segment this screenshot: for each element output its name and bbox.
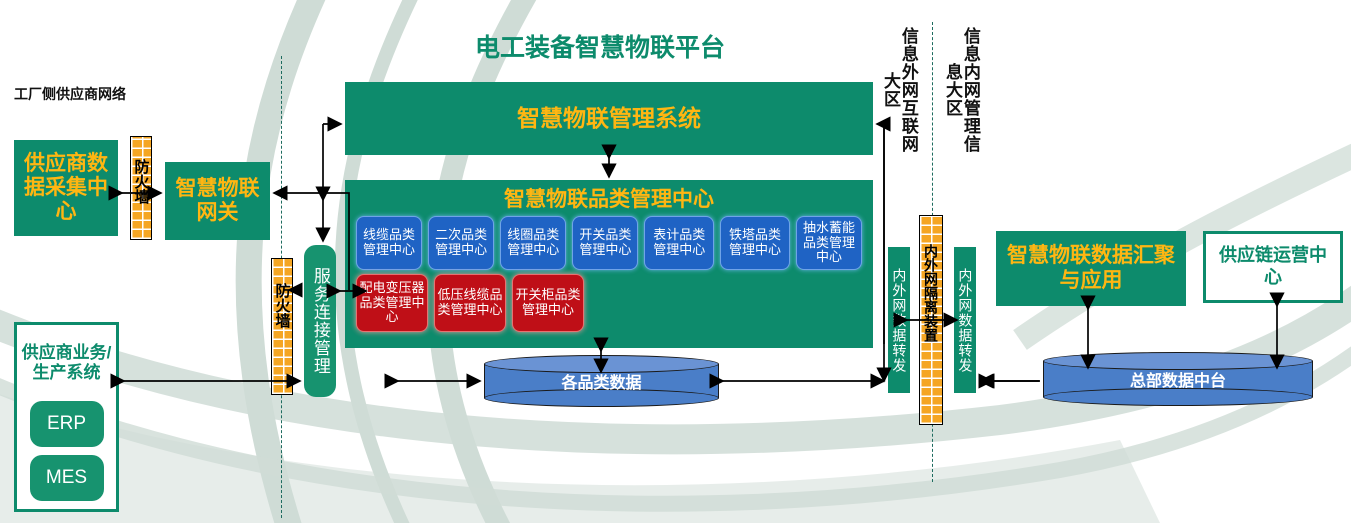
category-chip-cable[interactable]: 线缆品类管理中心	[356, 216, 422, 270]
smart-iot-management-system[interactable]: 智慧物联管理系统	[345, 82, 873, 155]
zone-label-int-net: 信息内网管理信息大区	[938, 25, 984, 155]
category-chip-transformer[interactable]: 配电变压器品类管理中心	[356, 274, 428, 332]
erp-module[interactable]: ERP	[30, 401, 104, 447]
category-data-database[interactable]: 各品类数据	[484, 355, 719, 407]
category-chip-row-red: 配电变压器品类管理中心 低压线缆品类管理中心 开关柜品类管理中心	[356, 274, 656, 330]
category-chip-row-blue: 线缆品类管理中心 二次品类管理中心 线圈品类管理中心 开关品类管理中心 表计品类…	[356, 216, 862, 268]
category-chip-secondary-label: 二次品类管理中心	[431, 228, 491, 257]
erp-module-label: ERP	[47, 413, 86, 436]
category-chip-switch-label: 开关品类管理中心	[575, 228, 635, 257]
supplier-business-system-title: 供应商业务/生产系统	[17, 325, 116, 397]
category-chip-tower[interactable]: 铁塔品类管理中心	[720, 216, 790, 270]
service-connection-management[interactable]: 服务连接管理	[304, 245, 336, 397]
category-data-database-label: 各品类数据	[561, 369, 641, 393]
mes-module[interactable]: MES	[30, 455, 104, 501]
supplier-data-collection-center-label: 供应商数据采集中心	[20, 152, 112, 224]
category-chip-lv-cable-label: 低压线缆品类管理中心	[437, 288, 503, 317]
supplier-business-system[interactable]: 供应商业务/生产系统 ERP MES	[14, 322, 119, 512]
category-center-title: 智慧物联品类管理中心	[345, 180, 873, 216]
zone-label-int-net-text: 信息内网管理信息大区	[943, 25, 979, 155]
page-title: 电工装备智慧物联平台	[390, 30, 810, 62]
category-chip-transformer-label: 配电变压器品类管理中心	[359, 281, 425, 325]
category-chip-switchgear-label: 开关柜品类管理中心	[515, 288, 581, 317]
category-chip-coil[interactable]: 线圈品类管理中心	[500, 216, 566, 270]
firewall-2-label: 防火墙	[275, 283, 290, 328]
service-connection-management-label: 服务连接管理	[311, 267, 329, 375]
inner-net-data-forwarder-label: 内外网数据转发	[958, 268, 973, 373]
smart-iot-management-system-label: 智慧物联管理系统	[517, 105, 701, 131]
firewall-2: 防火墙	[271, 258, 293, 395]
data-aggregation-application[interactable]: 智慧物联数据汇聚与应用	[996, 231, 1186, 306]
category-chip-switch[interactable]: 开关品类管理中心	[572, 216, 638, 270]
hq-data-platform-database-label: 总部数据中台	[1130, 367, 1226, 391]
data-aggregation-application-label: 智慧物联数据汇聚与应用	[1004, 244, 1178, 292]
hq-data-platform-database[interactable]: 总部数据中台	[1043, 352, 1313, 406]
smart-iot-gateway[interactable]: 智慧物联网关	[165, 162, 270, 240]
zone-label-ext-net: 信息外网互联网大区	[876, 25, 922, 155]
category-chip-pumped-storage[interactable]: 抽水蓄能品类管理中心	[796, 216, 862, 270]
zone-label-ext-net-text: 信息外网互联网大区	[881, 25, 917, 155]
category-chip-tower-label: 铁塔品类管理中心	[723, 228, 787, 257]
smart-iot-gateway-label: 智慧物联网关	[171, 177, 264, 225]
outer-net-data-forwarder-label: 内外网数据转发	[892, 268, 907, 373]
category-chip-pumped-storage-label: 抽水蓄能品类管理中心	[799, 221, 859, 265]
category-chip-secondary[interactable]: 二次品类管理中心	[428, 216, 494, 270]
category-chip-meter[interactable]: 表计品类管理中心	[644, 216, 714, 270]
zone-label-factory: 工厂侧供应商网络	[14, 84, 126, 104]
network-isolation-device-label: 内外网隔离装置	[924, 244, 938, 342]
mes-module-label: MES	[46, 467, 87, 490]
category-chip-meter-label: 表计品类管理中心	[647, 228, 711, 257]
category-chip-cable-label: 线缆品类管理中心	[359, 228, 419, 257]
outer-net-data-forwarder[interactable]: 内外网数据转发	[888, 247, 910, 393]
network-isolation-device: 内外网隔离装置	[919, 215, 943, 425]
supply-chain-operations-center[interactable]: 供应链运营中心	[1203, 231, 1343, 303]
category-chip-switchgear[interactable]: 开关柜品类管理中心	[512, 274, 584, 332]
category-chip-coil-label: 线圈品类管理中心	[503, 228, 563, 257]
firewall-1: 防火墙	[130, 136, 152, 240]
supply-chain-operations-center-label: 供应链运营中心	[1212, 245, 1334, 288]
inner-net-data-forwarder[interactable]: 内外网数据转发	[954, 247, 976, 393]
supplier-data-collection-center[interactable]: 供应商数据采集中心	[14, 140, 118, 236]
diagram-canvas: 电工装备智慧物联平台 工厂侧供应商网络 信息外网互联网大区 信息内网管理信息大区…	[0, 0, 1351, 523]
category-chip-lv-cable[interactable]: 低压线缆品类管理中心	[434, 274, 506, 332]
smart-iot-category-management-center: 智慧物联品类管理中心 线缆品类管理中心 二次品类管理中心 线圈品类管理中心 开关…	[345, 180, 873, 348]
firewall-1-label: 防火墙	[134, 159, 149, 204]
